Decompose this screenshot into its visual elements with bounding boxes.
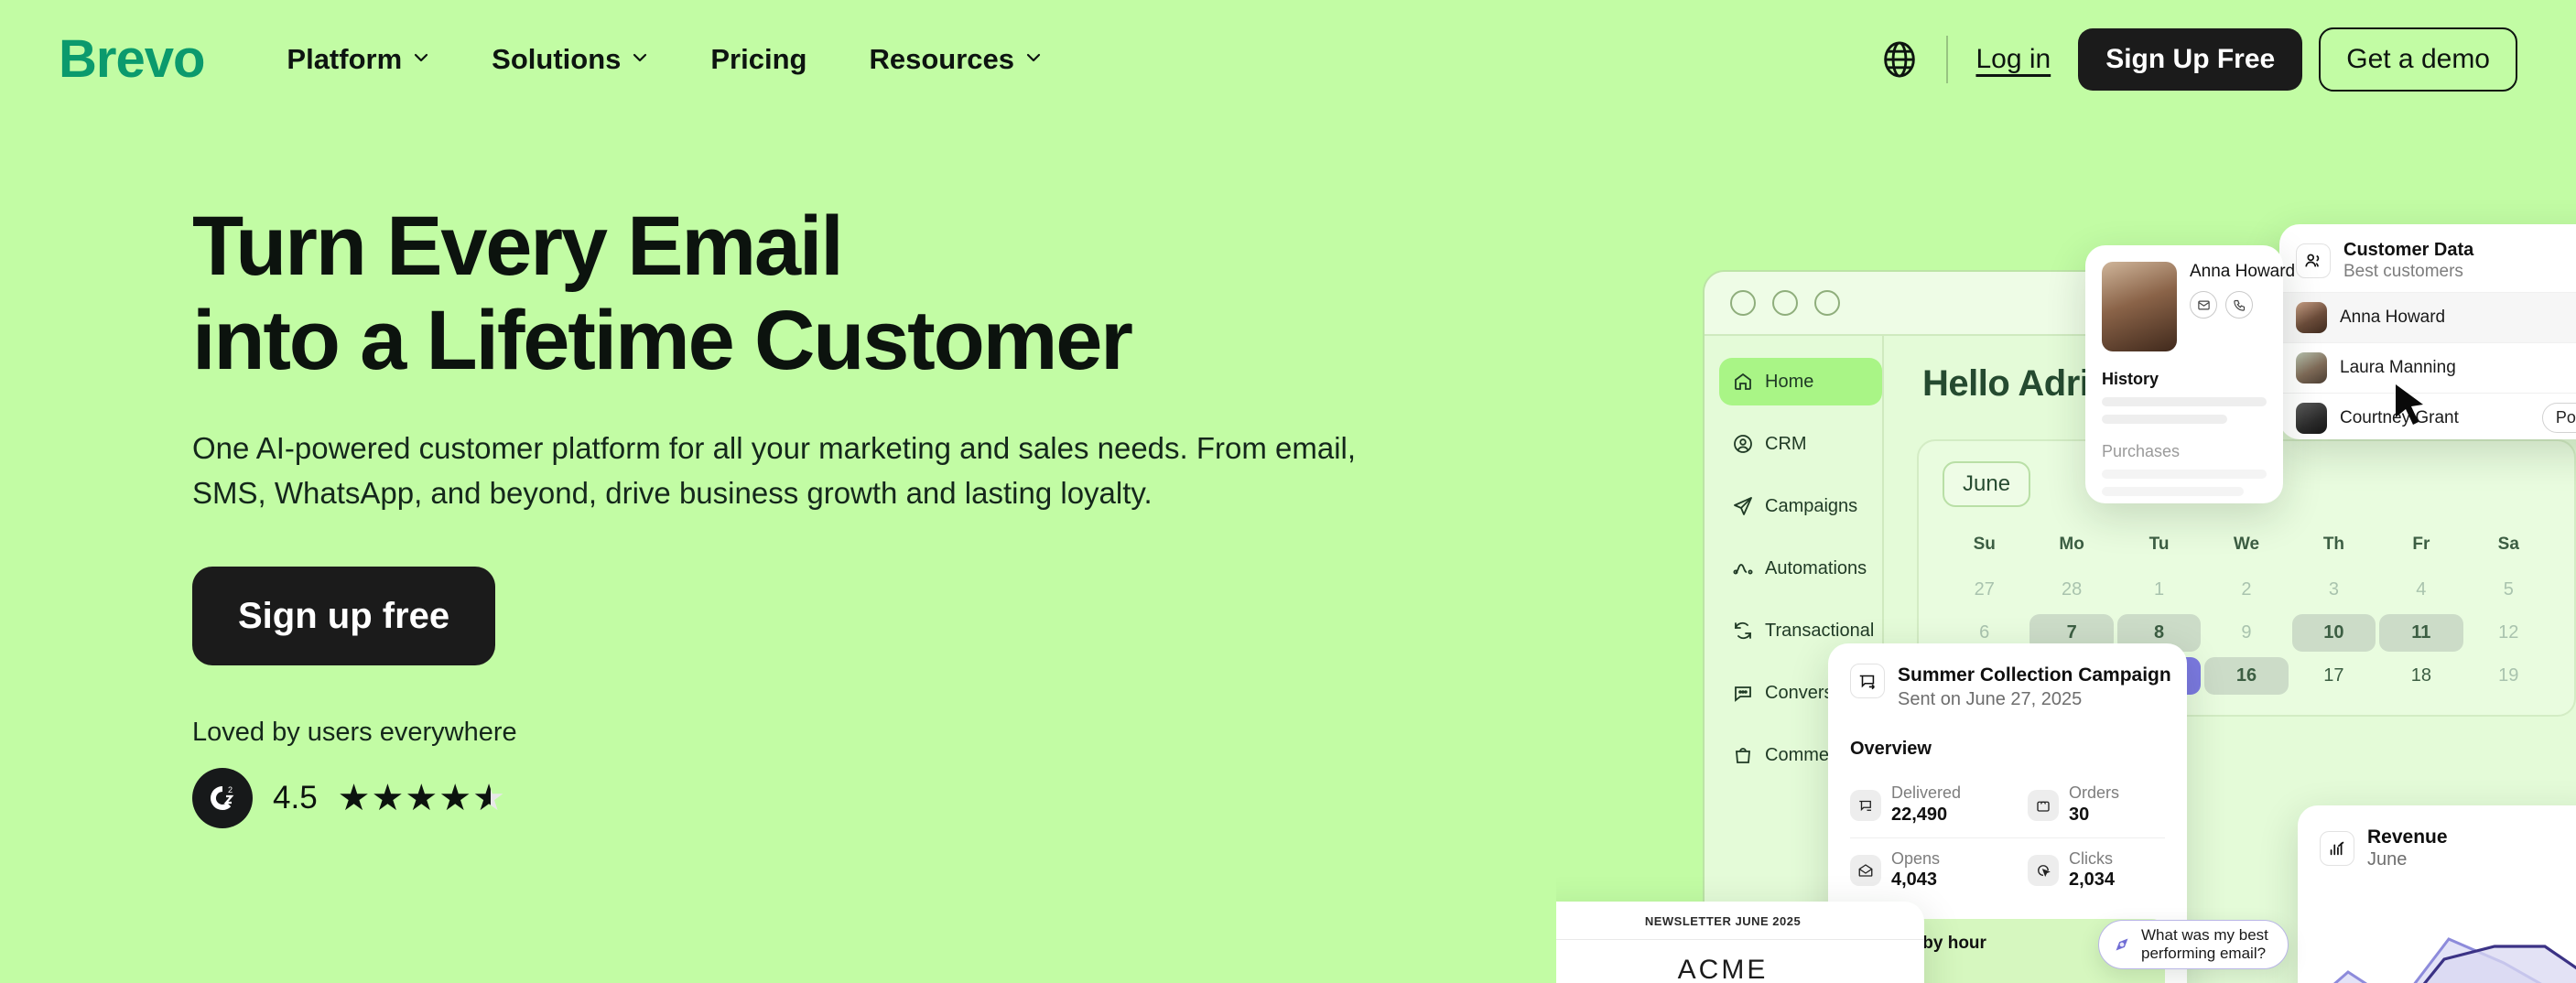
paper-plane-icon: [1732, 495, 1754, 517]
calendar-day[interactable]: 17: [2292, 657, 2376, 695]
chat-icon: [1732, 682, 1754, 704]
star-icon: ★: [405, 780, 438, 816]
headline-line-1: Turn Every Email: [192, 200, 842, 293]
hero-illustration: 5,200 New contacts added Loyal Customers…: [1556, 0, 2576, 983]
calendar-day[interactable]: 3: [2292, 571, 2376, 609]
nav-links: Platform Solutions Pricing Resources: [255, 43, 1073, 76]
bag-icon: [1732, 744, 1754, 766]
metric-value: 4,043: [1891, 869, 1940, 891]
campaign-header: Summer Collection Campaign Sent on June …: [1850, 664, 2165, 711]
newsletter-preview: NEWSLETTER JUNE 2025 ACME Discover our n…: [1556, 902, 1924, 983]
metric-label: Orders: [2069, 783, 2119, 804]
ai-prompt-line-2: performing email?: [2141, 945, 2268, 963]
customer-data-titles: Customer Data Best customers: [2343, 239, 2473, 283]
window-dot[interactable]: [1814, 290, 1840, 316]
sidebar-item-home[interactable]: Home: [1719, 358, 1882, 405]
bar-chart-icon: [2320, 831, 2354, 866]
bag-icon: [2028, 790, 2059, 821]
metric-label: Delivered: [1891, 783, 1961, 804]
calendar-dow: Tu: [2117, 535, 2201, 566]
nav-actions: Log in Sign Up Free Get a demo: [1878, 27, 2517, 92]
newsletter-kicker: NEWSLETTER JUNE 2025: [1556, 902, 1924, 940]
half-star-icon: ★★: [472, 780, 509, 816]
month-selector[interactable]: June: [1943, 461, 2030, 507]
hero-section: Turn Every Email into a Lifetime Custome…: [192, 200, 1474, 828]
email-send-icon: [1850, 790, 1881, 821]
nav-item-platform[interactable]: Platform: [255, 43, 460, 76]
ai-prompt-line-1: What was my best: [2141, 926, 2268, 945]
ai-sparkle-icon: [2112, 934, 2132, 955]
email-send-icon: [1850, 664, 1885, 698]
metric-value: 2,034: [2069, 869, 2115, 891]
brevo-logo[interactable]: Brevo: [59, 33, 204, 86]
placeholder-line: [2102, 397, 2267, 406]
avatar: [2296, 302, 2327, 333]
nav-item-label: Pricing: [710, 43, 806, 76]
placeholder-line: [2102, 487, 2244, 496]
metric-label: Opens: [1891, 849, 1940, 870]
rating-score: 4.5: [273, 780, 318, 816]
revenue-title: Revenue: [2367, 826, 2448, 848]
metric-label: Clicks: [2069, 849, 2115, 870]
calendar-day[interactable]: 4: [2379, 571, 2462, 609]
metric-delivered: Delivered22,490: [1850, 772, 2008, 838]
sign-up-free-cta-button[interactable]: Sign up free: [192, 567, 495, 665]
headline-line-2: into a Lifetime Customer: [192, 294, 1474, 388]
contact-name: Anna Howard: [2190, 262, 2295, 282]
overview-label: Overview: [1850, 739, 2165, 760]
user-circle-icon: [1732, 433, 1754, 455]
sidebar-item-label: Transactional: [1765, 621, 1874, 642]
page-title: Turn Every Email into a Lifetime Custome…: [192, 200, 1474, 388]
metric-value: 30: [2069, 804, 2119, 826]
calendar-day[interactable]: 11: [2379, 614, 2462, 652]
email-icon[interactable]: [2190, 291, 2217, 319]
revenue-sparkline: [2298, 906, 2576, 983]
calendar-dow: Sa: [2467, 535, 2550, 566]
star-rating: ★ ★ ★ ★ ★★: [338, 780, 509, 816]
phone-icon[interactable]: [2225, 291, 2253, 319]
metric-orders: Orders30: [2008, 772, 2165, 838]
calendar-day[interactable]: 10: [2292, 614, 2376, 652]
avatar: [2102, 262, 2177, 351]
people-icon: [2296, 243, 2331, 278]
contact-detail-card: Anna Howard History Purchases: [2085, 245, 2283, 503]
get-a-demo-button[interactable]: Get a demo: [2319, 27, 2517, 92]
nav-item-resources[interactable]: Resources: [838, 43, 1073, 76]
revenue-card: Revenue June: [2298, 805, 2576, 983]
customer-data-title: Customer Data: [2343, 239, 2473, 261]
click-icon: [2028, 855, 2059, 886]
calendar-day[interactable]: 12: [2467, 614, 2550, 652]
history-label: History: [2102, 370, 2267, 389]
calendar-day[interactable]: 18: [2379, 657, 2462, 695]
revenue-subtitle: June: [2367, 848, 2448, 871]
sidebar-item-label: Campaigns: [1765, 496, 1857, 517]
social-proof-label: Loved by users everywhere: [192, 718, 1474, 748]
calendar-day[interactable]: 9: [2204, 614, 2288, 652]
hero-subheadline: One AI-powered customer platform for all…: [192, 427, 1410, 515]
window-dot[interactable]: [1730, 290, 1756, 316]
metric-opens: Opens4,043: [1850, 838, 2008, 903]
sidebar-item-label: Home: [1765, 372, 1813, 393]
svg-text:2: 2: [228, 785, 233, 794]
purchases-label: Purchases: [2102, 442, 2267, 461]
campaign-title: Summer Collection Campaign: [1898, 664, 2171, 687]
login-link[interactable]: Log in: [1975, 44, 2051, 75]
revenue-header: Revenue June: [2320, 826, 2576, 871]
automations-icon: [1732, 557, 1754, 579]
envelope-open-icon: [1850, 855, 1881, 886]
campaign-metrics: Delivered22,490 Orders30 Opens4,043 Clic…: [1850, 772, 2165, 902]
calendar-day[interactable]: 5: [2467, 571, 2550, 609]
calendar-dow: Th: [2292, 535, 2376, 566]
star-icon: ★: [438, 780, 471, 816]
avatar: [2296, 403, 2327, 434]
calendar-day[interactable]: 2: [2204, 571, 2288, 609]
nav-item-label: Resources: [869, 43, 1014, 76]
nav-divider: [1946, 36, 1948, 83]
ai-prompt-pill[interactable]: What was my best performing email?: [2098, 920, 2289, 969]
calendar-day[interactable]: 19: [2467, 657, 2550, 695]
calendar-dow: Fr: [2379, 535, 2462, 566]
star-icon: ★: [338, 780, 371, 816]
calendar-dow: Mo: [2029, 535, 2113, 566]
revenue-titles: Revenue June: [2367, 826, 2448, 871]
home-icon: [1732, 371, 1754, 393]
window-dot[interactable]: [1772, 290, 1798, 316]
calendar-dow: We: [2204, 535, 2288, 566]
sidebar-item-campaigns[interactable]: Campaigns: [1719, 482, 1882, 530]
customer-name: Laura Manning: [2340, 358, 2456, 378]
chevron-down-icon: [632, 49, 648, 66]
sidebar-item-label: CRM: [1765, 434, 1807, 455]
calendar-day[interactable]: 27: [1943, 571, 2026, 609]
sidebar-item-automations[interactable]: Automations: [1719, 545, 1882, 592]
contact-identity: Anna Howard: [2190, 262, 2295, 319]
calendar-day[interactable]: 1: [2117, 571, 2201, 609]
star-icon: ★: [372, 780, 405, 816]
calendar-dow: Su: [1943, 535, 2026, 566]
metric-clicks: Clicks2,034: [2008, 838, 2165, 903]
table-row[interactable]: Anna Howard Very loyal: [2279, 292, 2576, 342]
globe-icon[interactable]: [1878, 38, 1921, 81]
status-badge: Potentially loyal: [2542, 403, 2576, 433]
sidebar-item-crm[interactable]: CRM: [1719, 420, 1882, 468]
customer-data-header: Customer Data Best customers: [2279, 239, 2576, 292]
chevron-down-icon: [1025, 49, 1042, 66]
chevron-down-icon: [413, 49, 429, 66]
top-navigation: Brevo Platform Solutions Pricing Resourc…: [0, 0, 2576, 119]
placeholder-line: [2102, 415, 2227, 424]
rating-row: 2 4.5 ★ ★ ★ ★ ★★: [192, 768, 1474, 828]
customer-data-subtitle: Best customers: [2343, 261, 2473, 283]
calendar-day[interactable]: 28: [2029, 571, 2113, 609]
ai-prompt-text: What was my best performing email?: [2141, 926, 2268, 963]
nav-item-label: Platform: [287, 43, 402, 76]
refresh-icon: [1732, 620, 1754, 642]
avatar: [2296, 352, 2327, 383]
sidebar-item-label: Automations: [1765, 558, 1867, 579]
calendar-day[interactable]: 16: [2204, 657, 2288, 695]
campaign-sent-date: Sent on June 27, 2025: [1898, 687, 2171, 711]
g2-icon: 2: [192, 768, 253, 828]
sign-up-free-button[interactable]: Sign Up Free: [2078, 28, 2302, 91]
metric-value: 22,490: [1891, 804, 1961, 826]
nav-item-label: Solutions: [492, 43, 621, 76]
nav-item-solutions[interactable]: Solutions: [460, 43, 679, 76]
campaign-titles: Summer Collection Campaign Sent on June …: [1898, 664, 2171, 711]
newsletter-brand: ACME: [1556, 940, 1924, 983]
customer-name: Anna Howard: [2340, 308, 2445, 328]
placeholder-line: [2102, 470, 2267, 479]
nav-item-pricing[interactable]: Pricing: [679, 43, 838, 76]
